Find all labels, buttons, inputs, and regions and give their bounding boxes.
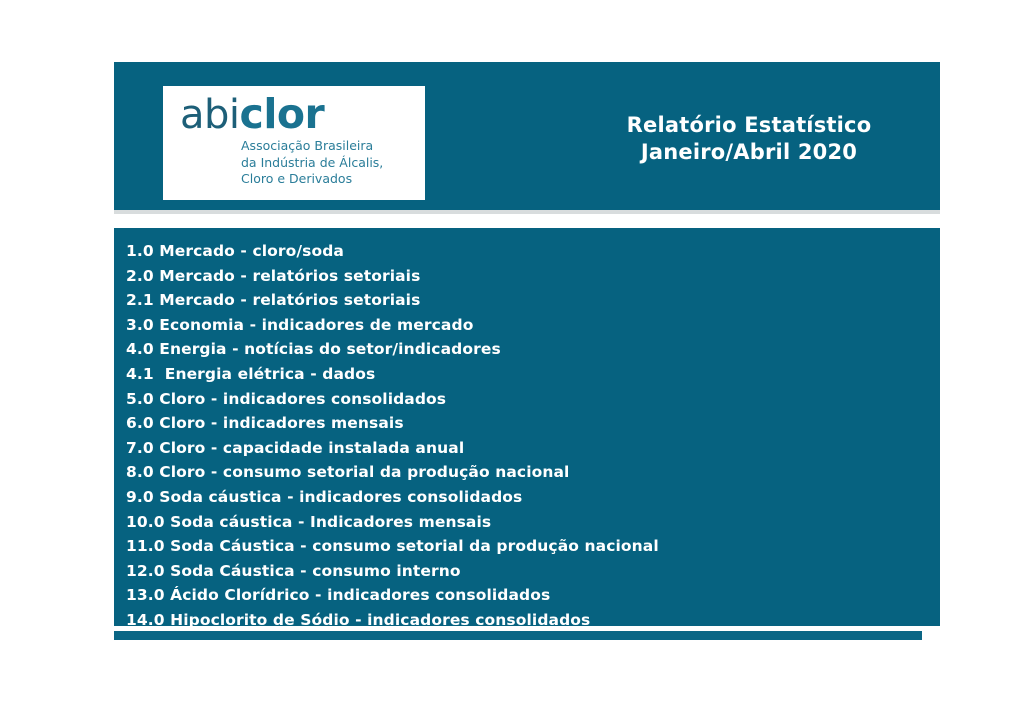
report-header-panel: abiclor Associação Brasileira da Indústr… bbox=[114, 62, 940, 210]
toc-item[interactable]: 2.1 Mercado - relatórios setoriais bbox=[126, 288, 659, 313]
toc-item[interactable]: 4.0 Energia - notícias do setor/indicado… bbox=[126, 337, 659, 362]
report-title: Relatório Estatístico bbox=[579, 112, 919, 139]
logo-wordmark: abiclor bbox=[180, 94, 324, 135]
toc-item[interactable]: 5.0 Cloro - indicadores consolidados bbox=[126, 387, 659, 412]
logo-wordmark-abi: abi bbox=[180, 92, 240, 138]
table-of-contents-panel: 1.0 Mercado - cloro/soda2.0 Mercado - re… bbox=[114, 228, 940, 626]
toc-item[interactable]: 16.0 Comércio Exterior - exportação bbox=[126, 657, 659, 682]
footer-accent-bar bbox=[114, 631, 922, 640]
logo-tagline: Associação Brasileira da Indústria de Ál… bbox=[241, 138, 383, 188]
toc-item[interactable]: 13.0 Ácido Clorídrico - indicadores cons… bbox=[126, 583, 659, 608]
logo-wordmark-clor: clor bbox=[240, 90, 325, 138]
logo-tagline-line-3: Cloro e Derivados bbox=[241, 171, 383, 188]
toc-item[interactable]: 14.0 Hipoclorito de Sódio - indicadores … bbox=[126, 608, 659, 633]
toc-item[interactable]: 6.0 Cloro - indicadores mensais bbox=[126, 411, 659, 436]
toc-item[interactable]: 7.0 Cloro - capacidade instalada anual bbox=[126, 436, 659, 461]
report-period: Janeiro/Abril 2020 bbox=[579, 139, 919, 166]
toc-item[interactable]: 4.1 Energia elétrica - dados bbox=[126, 362, 659, 387]
header-divider bbox=[114, 210, 940, 214]
toc-item[interactable]: 2.0 Mercado - relatórios setoriais bbox=[126, 264, 659, 289]
logo-tagline-line-1: Associação Brasileira bbox=[241, 138, 383, 155]
toc-item[interactable]: 11.0 Soda Cáustica - consumo setorial da… bbox=[126, 534, 659, 559]
toc-item[interactable]: 12.0 Soda Cáustica - consumo interno bbox=[126, 559, 659, 584]
toc-item[interactable]: 8.0 Cloro - consumo setorial da produção… bbox=[126, 460, 659, 485]
report-title-block: Relatório Estatístico Janeiro/Abril 2020 bbox=[579, 112, 919, 166]
logo-tagline-line-2: da Indústria de Álcalis, bbox=[241, 155, 383, 172]
toc-item[interactable]: 1.0 Mercado - cloro/soda bbox=[126, 239, 659, 264]
abiclor-logo: abiclor Associação Brasileira da Indústr… bbox=[163, 86, 425, 200]
toc-item[interactable]: 10.0 Soda cáustica - Indicadores mensais bbox=[126, 510, 659, 535]
toc-item[interactable]: 9.0 Soda cáustica - indicadores consolid… bbox=[126, 485, 659, 510]
table-of-contents-list: 1.0 Mercado - cloro/soda2.0 Mercado - re… bbox=[126, 239, 659, 682]
toc-item[interactable]: 3.0 Economia - indicadores de mercado bbox=[126, 313, 659, 338]
